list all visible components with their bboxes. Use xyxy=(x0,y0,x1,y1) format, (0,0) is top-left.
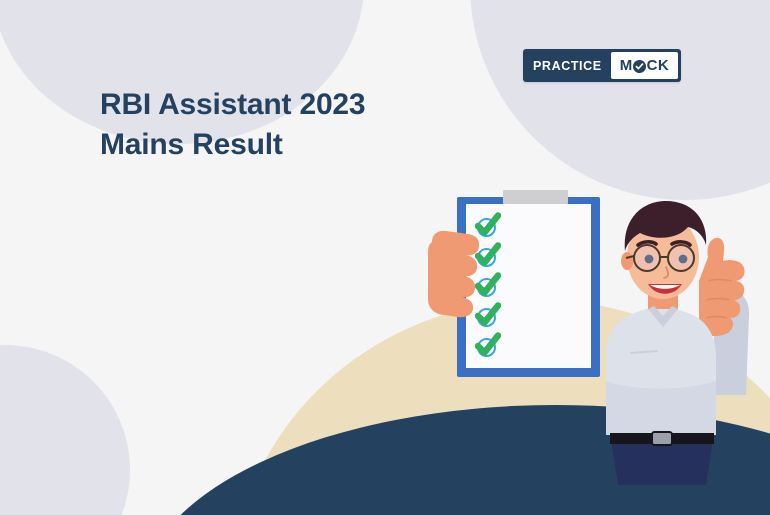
checklist-row xyxy=(476,244,583,270)
checklist-row xyxy=(476,334,583,360)
checklist-row xyxy=(476,274,583,300)
checklist-row xyxy=(476,304,583,330)
shirt xyxy=(606,306,716,435)
clipboard-paper xyxy=(466,204,591,368)
check-mark-icon xyxy=(476,335,500,359)
clipboard-clip xyxy=(503,190,568,204)
head xyxy=(621,201,706,299)
promo-banner: RBI Assistant 2023 Mains Result PRACTICE… xyxy=(0,0,770,515)
trousers xyxy=(610,432,714,485)
checklist-rows xyxy=(476,214,583,364)
hero-illustration xyxy=(0,0,770,515)
checklist-row xyxy=(476,214,583,240)
smiling-man-thumbs-up xyxy=(596,185,770,515)
hand-holding-clipboard xyxy=(424,228,484,320)
